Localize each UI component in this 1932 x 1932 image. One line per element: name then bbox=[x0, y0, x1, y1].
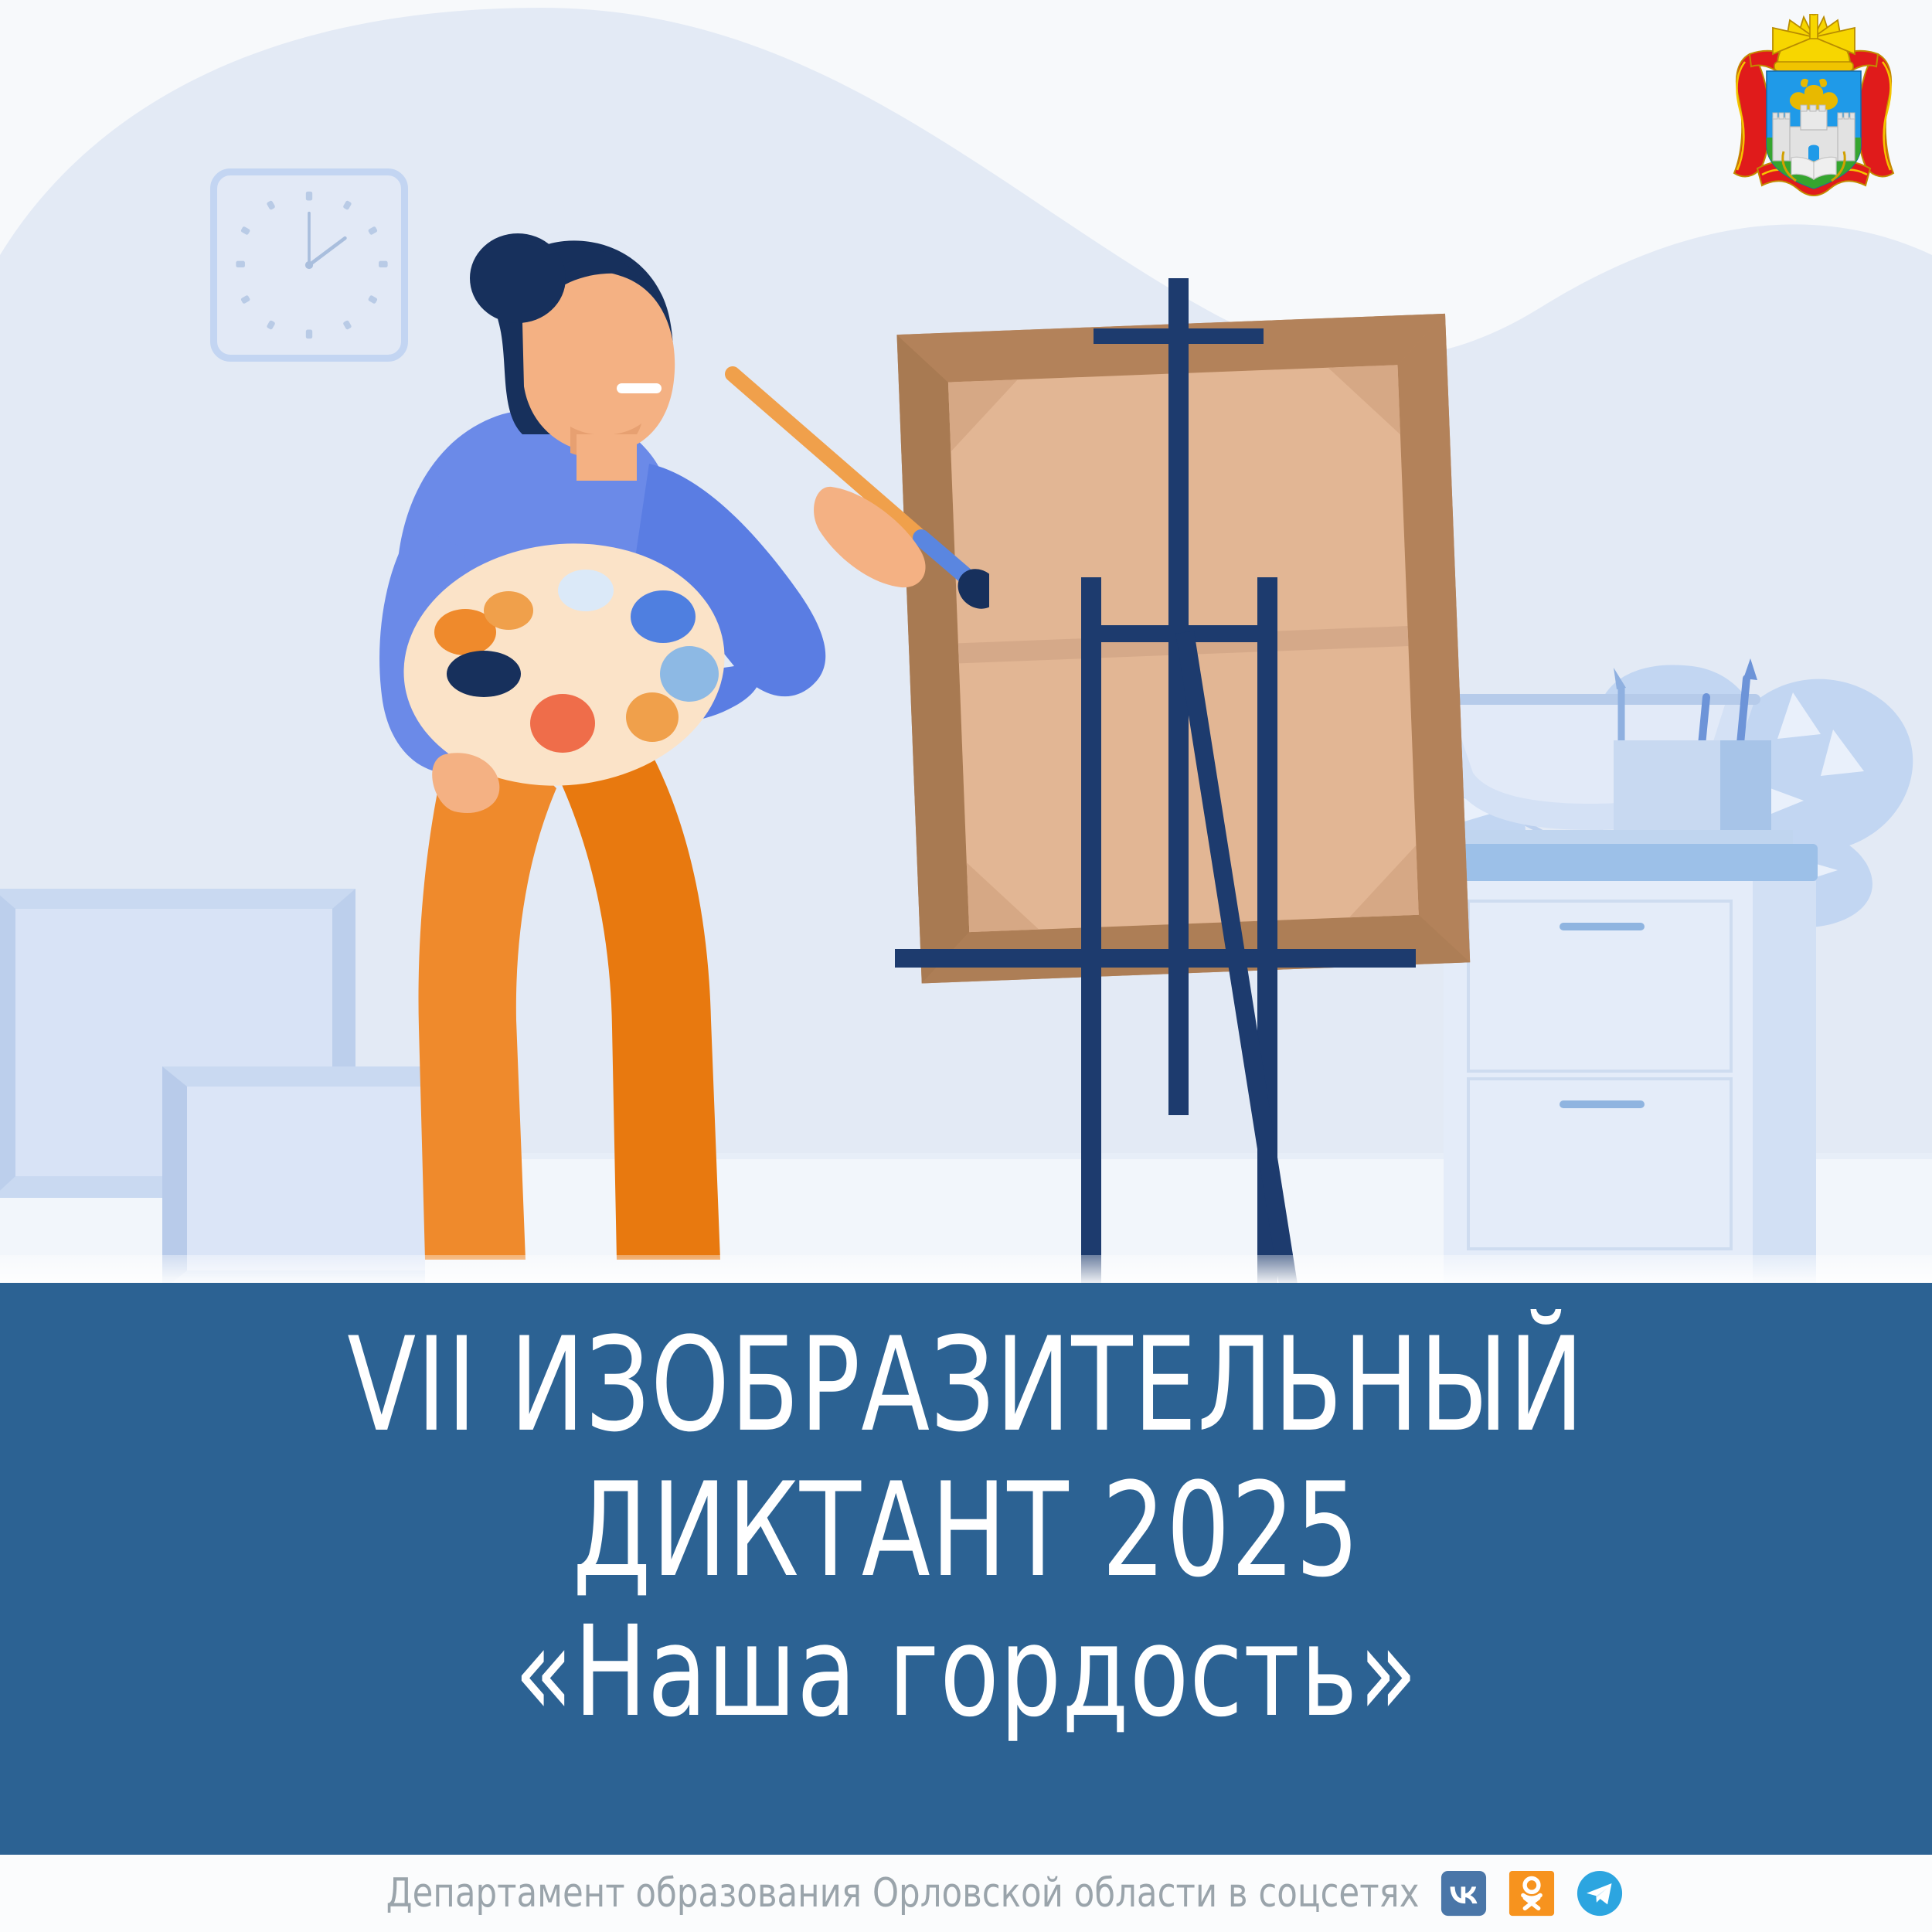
ok-icon[interactable] bbox=[1508, 1869, 1556, 1917]
fortress bbox=[1773, 105, 1855, 161]
cabinet-handle-1 bbox=[1560, 923, 1645, 930]
vk-icon[interactable] bbox=[1440, 1869, 1488, 1917]
poster: VII ИЗОБРАЗИТЕЛЬНЫЙ ДИКТАНТ 2025 «Наша г… bbox=[0, 0, 1932, 1932]
stacked-canvases bbox=[0, 889, 425, 1283]
title-banner: VII ИЗОБРАЗИТЕЛЬНЫЙ ДИКТАНТ 2025 «Наша г… bbox=[0, 1283, 1932, 1855]
title-line-2: ДИКТАНТ 2025 bbox=[573, 1458, 1360, 1603]
cabinet-handle-2 bbox=[1560, 1100, 1645, 1108]
shield bbox=[1767, 71, 1861, 189]
title-line-3: «Наша гордость» bbox=[514, 1603, 1418, 1743]
social-footer: Департамент образования Орловской област… bbox=[0, 1855, 1932, 1932]
crown bbox=[1773, 14, 1855, 71]
telegram-icon[interactable] bbox=[1576, 1869, 1624, 1917]
coat-of-arms-graphic bbox=[1730, 14, 1898, 213]
studio-illustration bbox=[0, 0, 1932, 1283]
woman-artist bbox=[371, 232, 989, 1283]
brushes-in-cup bbox=[1614, 658, 1771, 838]
right-hand bbox=[814, 487, 925, 587]
oryol-oblast-coat-of-arms-icon bbox=[1730, 14, 1898, 213]
title-line-1: VII ИЗОБРАЗИТЕЛЬНЫЙ bbox=[347, 1312, 1584, 1458]
bottom-fade bbox=[0, 1255, 1932, 1283]
cabinet-side bbox=[1753, 881, 1816, 1283]
footer-text: Департамент образования Орловской област… bbox=[386, 1870, 1420, 1917]
